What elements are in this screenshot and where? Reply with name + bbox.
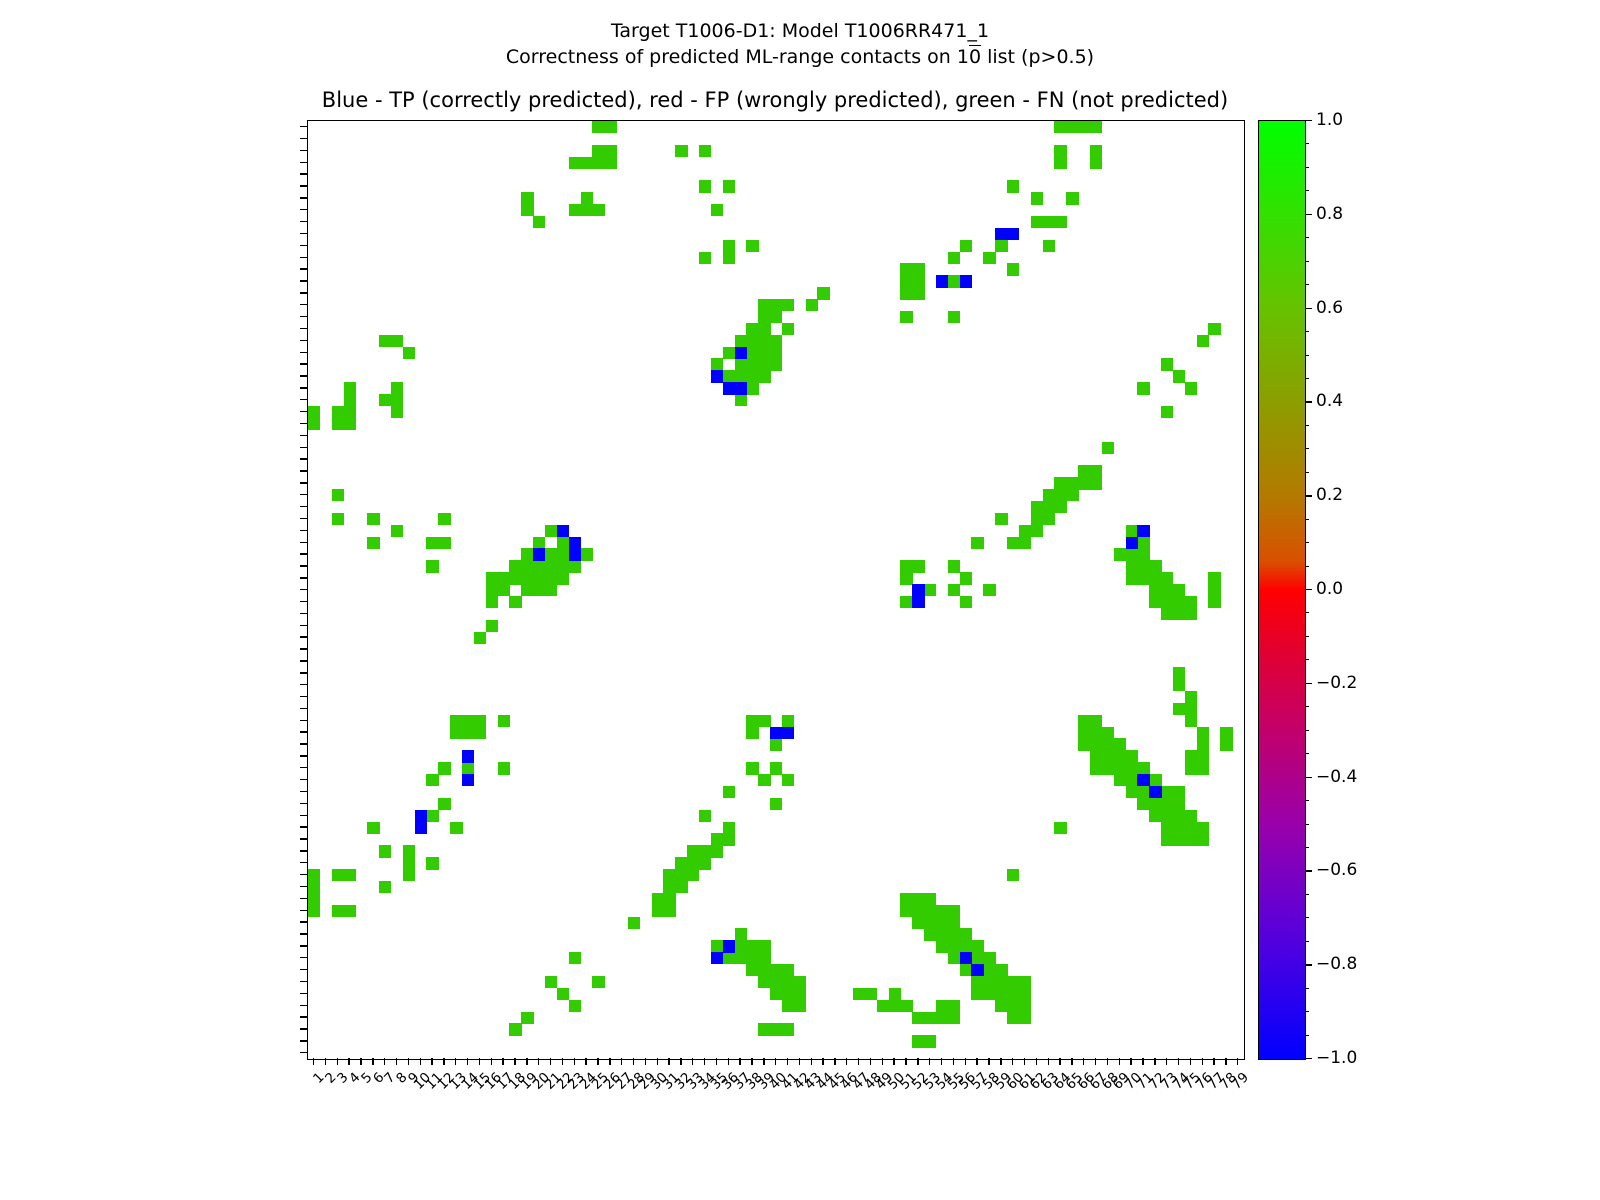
heatmap-cell-fn: [1208, 596, 1220, 608]
heatmap-cell-fn: [1161, 798, 1173, 810]
y-tick-mark: [300, 672, 307, 673]
x-tick-mark: [621, 1058, 622, 1065]
heatmap-cell-fn: [498, 715, 510, 727]
heatmap-cell-fn: [746, 335, 758, 347]
heatmap-cell-fn: [474, 632, 486, 644]
y-tick-mark: [300, 1028, 307, 1029]
heatmap-cell-fn: [521, 548, 533, 560]
heatmap-cell-fn: [723, 952, 735, 964]
y-tick-mark: [300, 803, 307, 804]
heatmap-cell-fn: [1161, 833, 1173, 845]
x-tick-mark: [325, 1058, 326, 1065]
heatmap-cell-fn: [995, 976, 1007, 988]
heatmap-cell-fn: [1090, 121, 1102, 133]
heatmap-cell-fn: [735, 358, 747, 370]
heatmap-cell-fn: [853, 988, 865, 1000]
heatmap-cell-fn: [533, 537, 545, 549]
heatmap-cell-fn: [794, 1000, 806, 1012]
y-tick-mark: [300, 577, 307, 578]
y-tick-mark: [300, 767, 307, 768]
heatmap-cell-fn: [900, 263, 912, 275]
heatmap-cell-fn: [545, 572, 557, 584]
heatmap-cell-fn: [569, 204, 581, 216]
plot-area[interactable]: [307, 120, 1245, 1060]
heatmap-cell-fn: [1126, 572, 1138, 584]
heatmap-cell-fn: [746, 347, 758, 359]
heatmap-cell-fn: [1185, 715, 1197, 727]
heatmap-cell-fn: [770, 798, 782, 810]
heatmap-cell-fn: [1137, 548, 1149, 560]
heatmap-cell-tp: [971, 964, 983, 976]
heatmap-cell-fn: [912, 1035, 924, 1047]
heatmap-cell-fn: [521, 584, 533, 596]
heatmap-cell-fn: [438, 762, 450, 774]
heatmap-cell-fn: [1114, 548, 1126, 560]
y-tick-mark: [300, 933, 307, 934]
y-tick-mark: [300, 375, 307, 376]
heatmap-cell-fn: [1043, 501, 1055, 513]
heatmap-cell-fn: [912, 1012, 924, 1024]
heatmap-cell-fn: [521, 204, 533, 216]
heatmap-cell-fn: [1054, 489, 1066, 501]
y-tick-mark: [300, 363, 307, 364]
heatmap-cell-fn: [1043, 240, 1055, 252]
heatmap-cell-fn: [936, 1000, 948, 1012]
heatmap-cell-fn: [1137, 762, 1149, 774]
heatmap-cell-fn: [486, 584, 498, 596]
heatmap-cell-fn: [557, 988, 569, 1000]
heatmap-cell-fn: [1161, 572, 1173, 584]
heatmap-cell-tp: [770, 727, 782, 739]
colorbar-minor-tick: [1305, 401, 1309, 402]
heatmap-cell-fn: [948, 560, 960, 572]
heatmap-cell-fn: [426, 810, 438, 822]
colorbar-minor-tick: [1305, 237, 1309, 238]
heatmap-cell-fn: [1090, 145, 1102, 157]
colorbar-tick-mark: [1305, 120, 1312, 121]
heatmap-cell-fn: [699, 857, 711, 869]
heatmap-cell-fn: [758, 1023, 770, 1035]
x-tick-mark: [384, 1058, 385, 1065]
x-tick-mark: [787, 1058, 788, 1065]
heatmap-cell-fn: [687, 869, 699, 881]
x-tick-mark: [988, 1058, 989, 1065]
heatmap-cell-fn: [569, 1000, 581, 1012]
x-tick-mark: [420, 1058, 421, 1065]
heatmap-cell-fn: [592, 976, 604, 988]
heatmap-cell-fn: [699, 252, 711, 264]
heatmap-cell-fn: [971, 952, 983, 964]
heatmap-cell-fn: [1031, 501, 1043, 513]
heatmap-cell-fn: [960, 940, 972, 952]
heatmap-cell-fn: [592, 157, 604, 169]
colorbar-tick-label: 0.0: [1316, 579, 1343, 599]
y-tick-mark: [300, 993, 307, 994]
x-tick-mark: [550, 1058, 551, 1065]
heatmap-cell-fn: [1197, 833, 1209, 845]
heatmap-cell-fn: [426, 774, 438, 786]
y-tick-mark: [300, 743, 307, 744]
heatmap-cell-fn: [782, 1000, 794, 1012]
heatmap-cell-tp: [1007, 228, 1019, 240]
heatmap-cell-fn: [782, 976, 794, 988]
heatmap-cell-fn: [344, 382, 356, 394]
x-tick-mark: [657, 1058, 658, 1065]
heatmap-cell-fn: [782, 323, 794, 335]
heatmap-cell-fn: [758, 370, 770, 382]
heatmap-cell-fn: [1102, 738, 1114, 750]
y-tick-mark: [300, 233, 307, 234]
heatmap-cell-fn: [498, 572, 510, 584]
heatmap-cell-fn: [1173, 370, 1185, 382]
heatmap-cell-fn: [1019, 988, 1031, 1000]
y-tick-mark: [300, 304, 307, 305]
colorbar-tick-label: 1.0: [1316, 110, 1343, 130]
heatmap-cell-fn: [663, 869, 675, 881]
heatmap-cell-fn: [782, 988, 794, 1000]
heatmap-cell-fn: [1161, 810, 1173, 822]
heatmap-cell-fn: [1043, 489, 1055, 501]
x-tick-mark: [1071, 1058, 1072, 1065]
heatmap-cell-fn: [308, 893, 320, 905]
heatmap-cell-fn: [889, 988, 901, 1000]
heatmap-cell-fn: [924, 928, 936, 940]
heatmap-cell-fn: [545, 548, 557, 560]
x-tick-mark: [1095, 1058, 1096, 1065]
heatmap-cell-fn: [948, 928, 960, 940]
heatmap-cell-tp: [960, 275, 972, 287]
heatmap-cell-tp: [723, 382, 735, 394]
heatmap-cell-fn: [948, 917, 960, 929]
colorbar-minor-tick: [1305, 706, 1309, 707]
heatmap-cell-fn: [971, 976, 983, 988]
heatmap-cell-fn: [758, 715, 770, 727]
heatmap-cell-fn: [1090, 762, 1102, 774]
x-tick-mark: [1202, 1058, 1203, 1065]
title-line-2-post: list (p>0.5): [981, 46, 1094, 68]
heatmap-cell-fn: [758, 323, 770, 335]
colorbar-tick-label: −0.2: [1316, 673, 1357, 693]
heatmap-cell-fn: [936, 1012, 948, 1024]
heatmap-cell-fn: [486, 620, 498, 632]
x-tick-mark: [443, 1058, 444, 1065]
heatmap-cell-fn: [794, 976, 806, 988]
heatmap-cell-fn: [948, 311, 960, 323]
heatmap-cell-fn: [723, 180, 735, 192]
heatmap-cell-fn: [450, 727, 462, 739]
heatmap-cell-fn: [746, 382, 758, 394]
heatmap-cell-tp: [533, 548, 545, 560]
heatmap-cell-fn: [1137, 798, 1149, 810]
heatmap-cell-fn: [1114, 762, 1126, 774]
heatmap-cell-fn: [332, 513, 344, 525]
heatmap-cell-fn: [782, 964, 794, 976]
heatmap-cell-fn: [344, 394, 356, 406]
y-tick-mark: [300, 898, 307, 899]
heatmap-cell-fn: [545, 976, 557, 988]
heatmap-cell-fn: [711, 833, 723, 845]
heatmap-cell-fn: [663, 905, 675, 917]
heatmap-cell-fn: [486, 596, 498, 608]
heatmap-cell-fn: [1090, 715, 1102, 727]
heatmap-cell-fn: [699, 180, 711, 192]
x-tick-mark: [941, 1058, 942, 1065]
heatmap-cell-fn: [663, 881, 675, 893]
heatmap-cell-fn: [758, 976, 770, 988]
heatmap-cell-fn: [1173, 667, 1185, 679]
heatmap-cell-fn: [1185, 750, 1197, 762]
y-tick-mark: [300, 945, 307, 946]
heatmap-cell-fn: [344, 869, 356, 881]
heatmap-cell-fn: [877, 1000, 889, 1012]
colorbar-tick-mark: [1305, 964, 1312, 965]
y-tick-mark: [300, 328, 307, 329]
heatmap-cell-fn: [498, 584, 510, 596]
heatmap-cell-fn: [699, 145, 711, 157]
heatmap-cell-fn: [1054, 157, 1066, 169]
y-tick-mark: [300, 173, 307, 174]
heatmap-cell-fn: [900, 572, 912, 584]
heatmap-cell-fn: [1161, 406, 1173, 418]
colorbar-minor-tick: [1305, 425, 1309, 426]
heatmap-cell-fn: [1031, 192, 1043, 204]
heatmap-cell-fn: [557, 560, 569, 572]
heatmap-cell-fn: [604, 121, 616, 133]
heatmap-cell-fn: [1208, 572, 1220, 584]
heatmap-cell-fn: [1197, 335, 1209, 347]
heatmap-cell-fn: [308, 418, 320, 430]
heatmap-cell-fn: [1126, 548, 1138, 560]
heatmap-cell-fn: [1054, 216, 1066, 228]
colorbar-minor-tick: [1305, 612, 1309, 613]
heatmap-cell-fn: [675, 857, 687, 869]
heatmap-cell-tp: [569, 537, 581, 549]
heatmap-cell-tp: [711, 952, 723, 964]
heatmap-cell-fn: [746, 370, 758, 382]
colorbar-tick-label: −0.8: [1316, 954, 1357, 974]
x-tick-mark: [633, 1058, 634, 1065]
heatmap-cell-fn: [782, 715, 794, 727]
heatmap-cell-tp: [569, 548, 581, 560]
colorbar-tick-label: −0.4: [1316, 767, 1357, 787]
heatmap-cell-fn: [723, 822, 735, 834]
heatmap-cell-fn: [936, 917, 948, 929]
colorbar-minor-tick: [1305, 542, 1309, 543]
heatmap-cell-fn: [1185, 382, 1197, 394]
heatmap-cell-fn: [687, 857, 699, 869]
heatmap-cell-fn: [723, 370, 735, 382]
x-tick-mark: [313, 1058, 314, 1065]
heatmap-cell-fn: [367, 513, 379, 525]
heatmap-cell-fn: [1185, 703, 1197, 715]
colorbar-minor-tick: [1305, 1011, 1309, 1012]
heatmap-cell-fn: [521, 572, 533, 584]
heatmap-cell-fn: [960, 572, 972, 584]
heatmap-cell-fn: [971, 537, 983, 549]
x-tick-mark: [953, 1058, 954, 1065]
heatmap-cell-fn: [924, 917, 936, 929]
heatmap-cell-fn: [1102, 762, 1114, 774]
heatmap-cell-fn: [1019, 525, 1031, 537]
y-tick-mark: [300, 458, 307, 459]
colorbar-minor-tick: [1305, 800, 1309, 801]
y-tick-mark: [300, 921, 307, 922]
colorbar-minor-tick: [1305, 1035, 1309, 1036]
heatmap-cell-fn: [675, 869, 687, 881]
colorbar-tick-mark: [1305, 1058, 1312, 1059]
x-tick-mark: [799, 1058, 800, 1065]
colorbar-minor-tick: [1305, 495, 1309, 496]
heatmap-cell-fn: [782, 1023, 794, 1035]
heatmap-cell-fn: [474, 727, 486, 739]
x-tick-mark: [467, 1058, 468, 1065]
heatmap-cell-fn: [1031, 216, 1043, 228]
title-line-2-overline: 0: [969, 46, 981, 68]
colorbar-tick-mark: [1305, 214, 1312, 215]
x-tick-mark: [680, 1058, 681, 1065]
heatmap-cell-fn: [332, 489, 344, 501]
x-tick-mark: [822, 1058, 823, 1065]
heatmap-cell-fn: [1161, 358, 1173, 370]
y-tick-mark: [300, 696, 307, 697]
heatmap-cell-fn: [1185, 596, 1197, 608]
y-tick-mark: [300, 553, 307, 554]
heatmap-cell-fn: [367, 537, 379, 549]
colorbar-minor-tick: [1305, 824, 1309, 825]
heatmap-cell-fn: [1126, 774, 1138, 786]
colorbar-tick-mark: [1305, 308, 1312, 309]
heatmap-cell-fn: [770, 762, 782, 774]
heatmap-cell-fn: [1054, 501, 1066, 513]
title-line-2: Correctness of predicted ML-range contac…: [0, 44, 1600, 70]
heatmap-cell-tp: [711, 370, 723, 382]
heatmap-cell-fn: [308, 406, 320, 418]
heatmap-cell-fn: [462, 762, 474, 774]
heatmap-cell-fn: [344, 418, 356, 430]
heatmap-cell-fn: [426, 560, 438, 572]
heatmap-cell-fn: [1220, 727, 1232, 739]
heatmap-cell-fn: [1043, 216, 1055, 228]
heatmap-cell-fn: [1126, 560, 1138, 572]
heatmap-cell-fn: [1149, 810, 1161, 822]
heatmap-cell-fn: [403, 869, 415, 881]
heatmap-cell-fn: [533, 560, 545, 572]
x-tick-mark: [905, 1058, 906, 1065]
y-tick-mark: [300, 399, 307, 400]
colorbar-minor-tick: [1305, 636, 1309, 637]
colorbar-minor-tick: [1305, 988, 1309, 989]
x-tick-mark: [1178, 1058, 1179, 1065]
y-tick-mark: [300, 387, 307, 388]
y-tick-mark: [300, 850, 307, 851]
heatmap-cell-fn: [391, 406, 403, 418]
heatmap-cell-fn: [995, 513, 1007, 525]
colorbar-minor-tick: [1305, 753, 1309, 754]
x-tick-mark: [1225, 1058, 1226, 1065]
heatmap-cell-fn: [758, 940, 770, 952]
heatmap-cell-fn: [983, 976, 995, 988]
title-line-2-pre: Correctness of predicted ML-range contac…: [506, 46, 969, 68]
heatmap-cell-fn: [1173, 584, 1185, 596]
heatmap-cell-fn: [1185, 762, 1197, 774]
x-tick-mark: [337, 1058, 338, 1065]
y-tick-mark: [300, 981, 307, 982]
heatmap-cell-fn: [391, 382, 403, 394]
heatmap-cell-fn: [332, 905, 344, 917]
heatmap-cell-tp: [415, 822, 427, 834]
colorbar-tick-mark: [1305, 777, 1312, 778]
colorbar[interactable]: [1258, 120, 1306, 1060]
heatmap-cell-fn: [1149, 560, 1161, 572]
heatmap-cell-fn: [450, 715, 462, 727]
heatmap-cell-fn: [865, 988, 877, 1000]
colorbar-minor-tick: [1305, 566, 1309, 567]
heatmap-cell-fn: [924, 1035, 936, 1047]
legend-subtitle: Blue - TP (correctly predicted), red - F…: [307, 88, 1243, 112]
x-tick-mark: [811, 1058, 812, 1065]
heatmap-cell-fn: [758, 299, 770, 311]
heatmap-cell-fn: [1197, 727, 1209, 739]
heatmap-cell-fn: [1185, 833, 1197, 845]
colorbar-minor-tick: [1305, 167, 1309, 168]
heatmap-cell-fn: [438, 513, 450, 525]
heatmap-cell-fn: [403, 857, 415, 869]
heatmap-cell-fn: [675, 881, 687, 893]
heatmap-cell-fn: [367, 822, 379, 834]
heatmap-cell-fn: [900, 560, 912, 572]
y-tick-mark: [300, 565, 307, 566]
heatmap-cell-fn: [723, 347, 735, 359]
y-tick-mark: [300, 506, 307, 507]
x-tick-mark: [870, 1058, 871, 1065]
heatmap-cell-fn: [1019, 1000, 1031, 1012]
heatmap-cell-fn: [509, 1023, 521, 1035]
heatmap-cell-tp: [1126, 537, 1138, 549]
y-tick-mark: [300, 625, 307, 626]
heatmap-cell-fn: [983, 988, 995, 1000]
heatmap-cell-fn: [1090, 738, 1102, 750]
heatmap-cell-fn: [1054, 145, 1066, 157]
x-tick-mark: [846, 1058, 847, 1065]
x-tick-mark: [408, 1058, 409, 1065]
y-tick-mark: [300, 482, 307, 483]
heatmap-cell-fn: [1031, 525, 1043, 537]
y-tick-mark: [300, 411, 307, 412]
y-tick-mark: [300, 494, 307, 495]
heatmap-cell-fn: [1161, 608, 1173, 620]
colorbar-minor-tick: [1305, 143, 1309, 144]
y-tick-mark: [300, 684, 307, 685]
heatmap-cell-fn: [912, 287, 924, 299]
x-tick-mark: [692, 1058, 693, 1065]
y-tick-mark: [300, 613, 307, 614]
heatmap-cell-fn: [1031, 513, 1043, 525]
heatmap-cell-fn: [711, 845, 723, 857]
heatmap-cell-fn: [948, 1000, 960, 1012]
contact-map-figure: Target T1006-D1: Model T1006RR471_1 Corr…: [0, 0, 1600, 1200]
heatmap-cell-fn: [723, 252, 735, 264]
y-tick-mark: [300, 150, 307, 151]
heatmap-cell-tp: [557, 525, 569, 537]
heatmap-cell-fn: [983, 252, 995, 264]
y-tick-mark: [300, 340, 307, 341]
heatmap-cell-fn: [936, 940, 948, 952]
heatmap-cell-fn: [1078, 738, 1090, 750]
heatmap-cell-fn: [533, 584, 545, 596]
y-tick-mark: [300, 1016, 307, 1017]
heatmap-cell-fn: [1102, 442, 1114, 454]
heatmap-cell-fn: [1007, 1012, 1019, 1024]
